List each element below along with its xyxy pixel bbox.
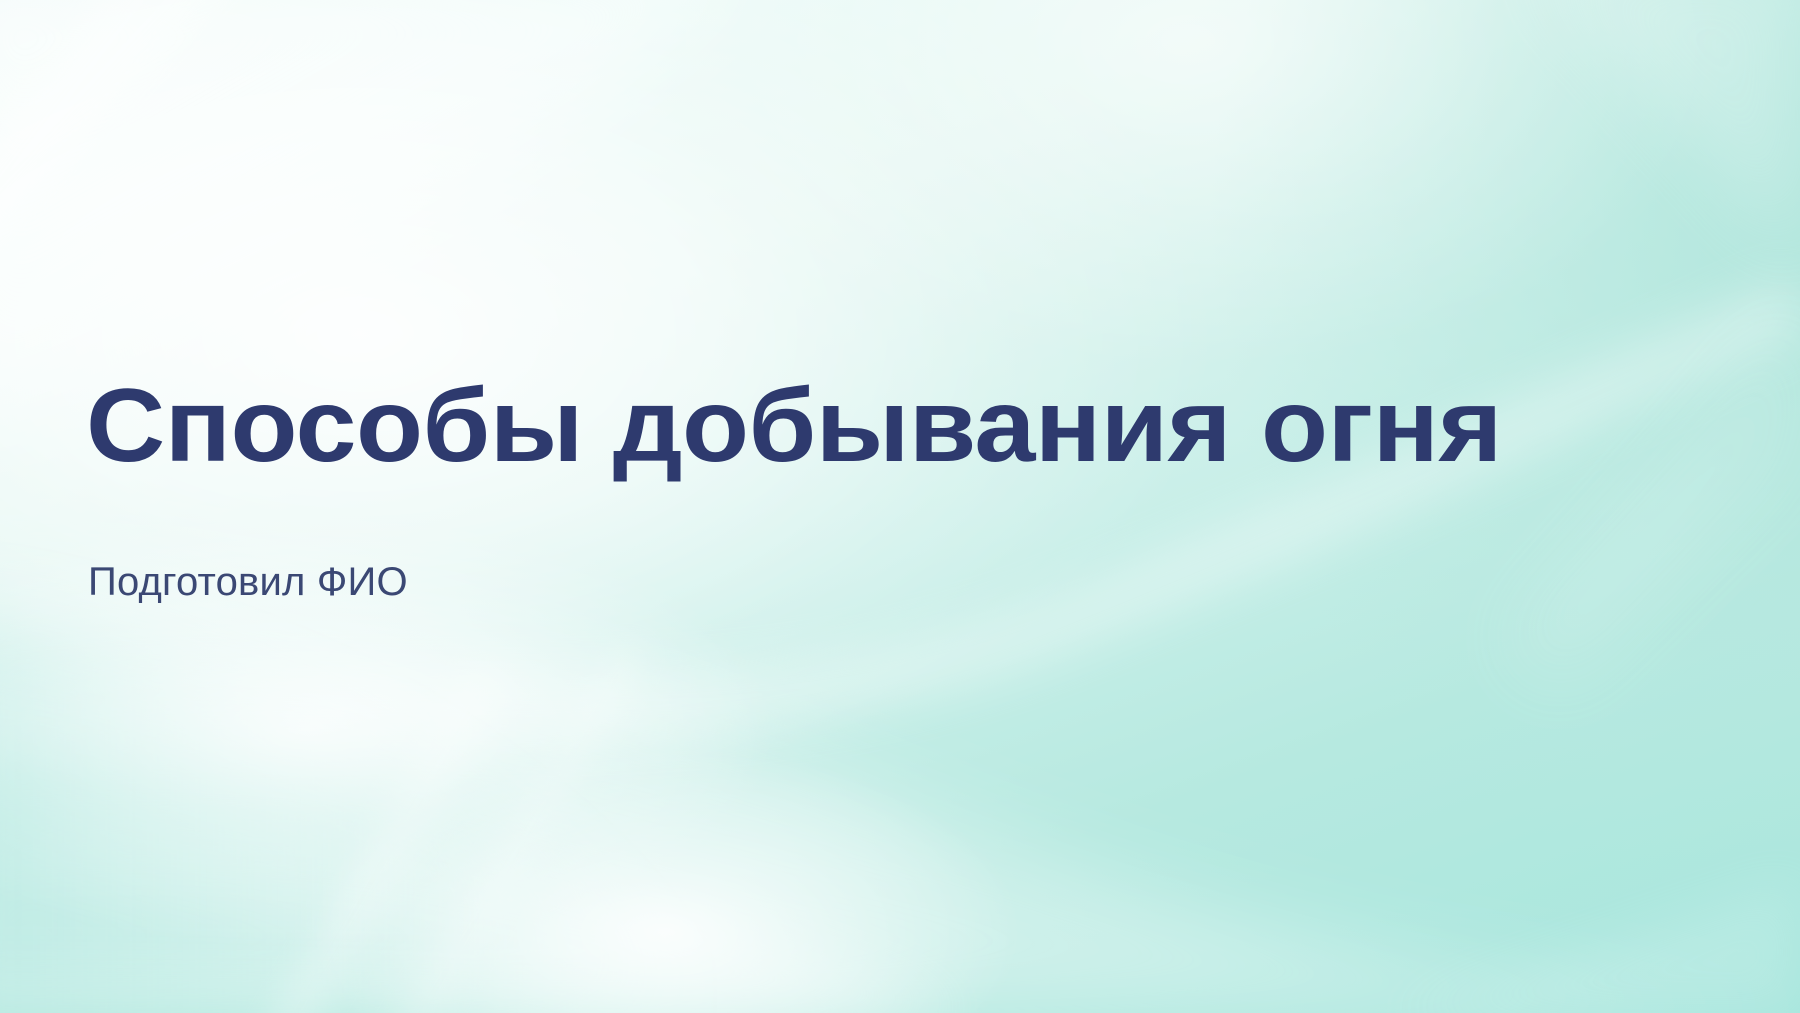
page-title: Способы добывания огня xyxy=(86,374,1502,478)
slide-author-line: Подготовил ФИО xyxy=(88,558,408,606)
slide-text-block: Способы добывания огня Подготовил ФИО xyxy=(86,0,1726,1013)
presentation-title-slide: Способы добывания огня Подготовил ФИО xyxy=(0,0,1800,1013)
